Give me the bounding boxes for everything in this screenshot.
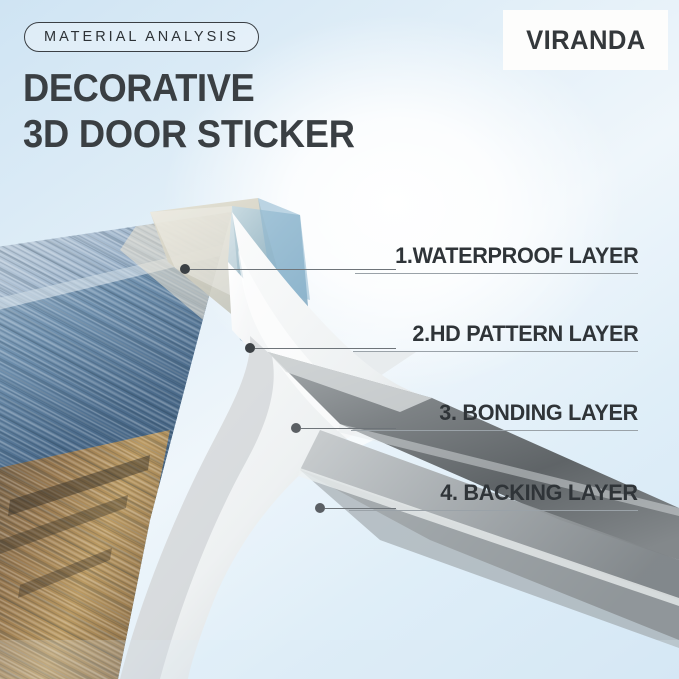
page-title-line-1: DECORATIVE (23, 66, 355, 112)
material-analysis-badge-label: MATERIAL ANALYSIS (44, 29, 239, 45)
callout-label-1: 1.WATERPROOF LAYER (385, 243, 638, 269)
product-infographic: 1.WATERPROOF LAYER 2.HD PATTERN LAYER 3.… (0, 0, 679, 679)
callout-dot-4 (315, 503, 325, 513)
callout-label-2: 2.HD PATTERN LAYER (403, 321, 638, 347)
leader-line-3 (301, 428, 396, 429)
leader-line-4 (325, 508, 396, 509)
callout-dot-2 (245, 343, 255, 353)
callout-rule-3 (351, 430, 638, 431)
callout-dot-1 (180, 264, 190, 274)
callout-label-4-text: 4. BACKING LAYER (441, 480, 638, 506)
callout-label-3: 3. BONDING LAYER (431, 400, 638, 426)
callout-rule-1 (355, 273, 638, 274)
callout-label-4: 4. BACKING LAYER (432, 480, 638, 506)
page-title: DECORATIVE 3D DOOR STICKER (23, 66, 355, 158)
leader-line-1 (190, 269, 396, 270)
callout-label-2-text: 2.HD PATTERN LAYER (412, 321, 638, 347)
callout-rule-4 (349, 510, 638, 511)
callout-rule-2 (353, 351, 638, 352)
callout-label-1-text: 1.WATERPROOF LAYER (395, 243, 638, 269)
callout-dot-3 (291, 423, 301, 433)
leader-line-2 (255, 348, 396, 349)
brand-logo-text: VIRANDA (526, 25, 646, 56)
brand-logo: VIRANDA (503, 10, 668, 70)
page-title-line-2: 3D DOOR STICKER (23, 112, 355, 158)
material-analysis-badge: MATERIAL ANALYSIS (24, 22, 259, 52)
callout-label-3-text: 3. BONDING LAYER (439, 400, 638, 426)
